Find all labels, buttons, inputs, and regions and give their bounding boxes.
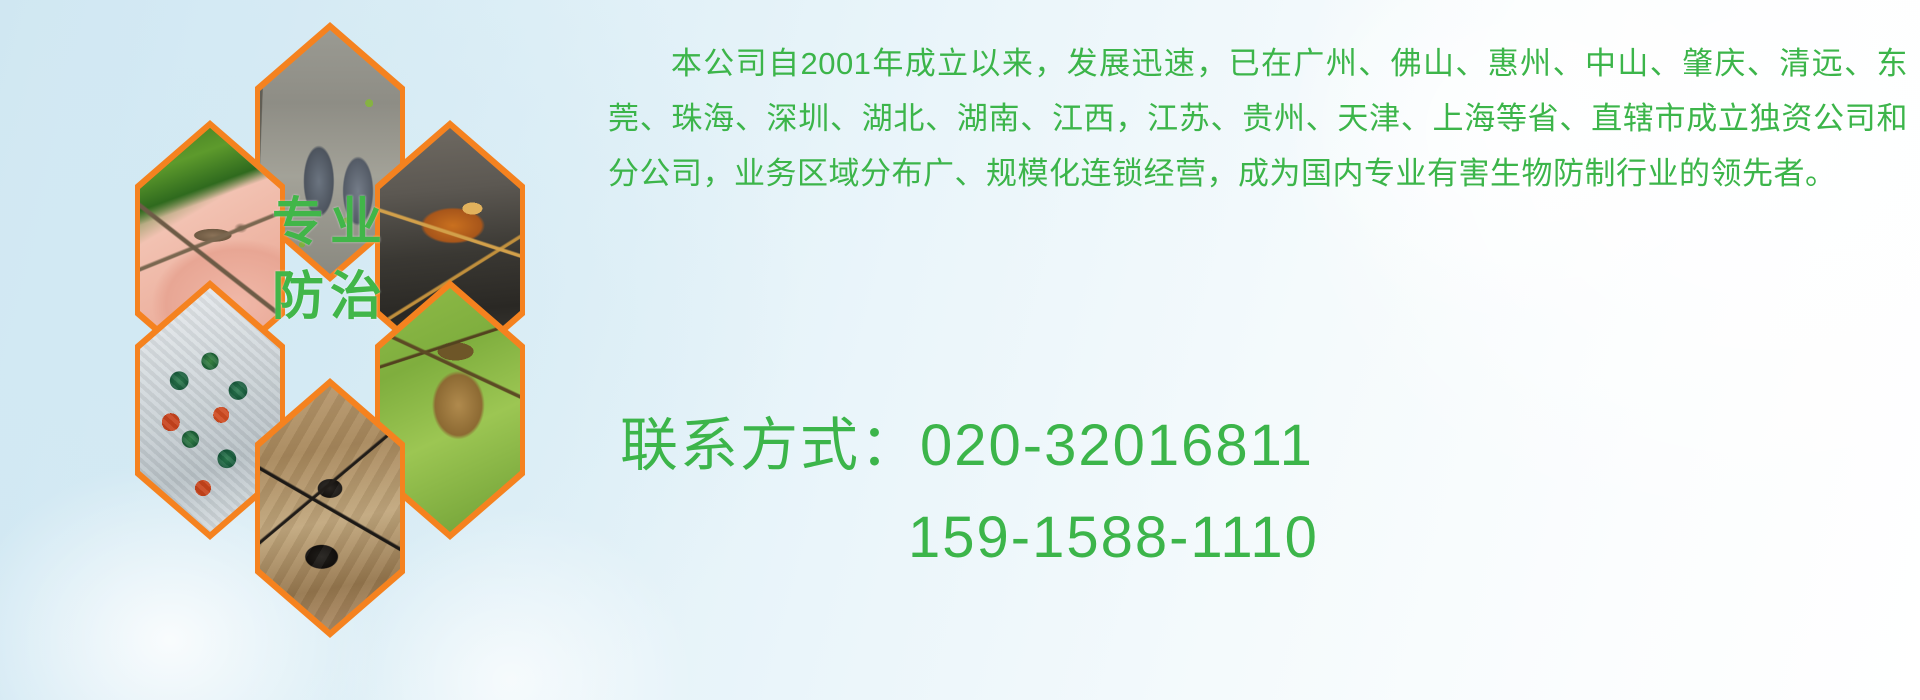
company-paragraph-text: 本公司自2001年成立以来，发展迅速，已在广州、佛山、惠州、中山、肇庆、清远、东…: [608, 46, 1908, 191]
contact-phone-secondary[interactable]: 159-1588-1110: [620, 492, 1900, 584]
contact-block: 联系方式：020-32016811 159-1588-1110: [620, 400, 1900, 584]
company-paragraph: 本公司自2001年成立以来，发展迅速，已在广州、佛山、惠州、中山、肇庆、清远、东…: [608, 36, 1908, 201]
collage-headline-line1: 专业: [272, 197, 388, 249]
company-copy-block: 本公司自2001年成立以来，发展迅速，已在广州、佛山、惠州、中山、肇庆、清远、东…: [608, 36, 1908, 201]
collage-headline: 专业 防治: [255, 130, 405, 390]
ant-photo: [260, 386, 400, 630]
hex-photo-ant: [260, 386, 400, 630]
promo-banner: 专业 防治 本公司自2001年成立以来，发展迅速，已在广州、佛山、惠州、中山、肇…: [0, 0, 1920, 700]
collage-headline-line2: 防治: [272, 271, 388, 323]
pest-photo-honeycomb: 专业 防治: [90, 0, 590, 580]
contact-phone-primary[interactable]: 联系方式：020-32016811: [620, 400, 1900, 492]
